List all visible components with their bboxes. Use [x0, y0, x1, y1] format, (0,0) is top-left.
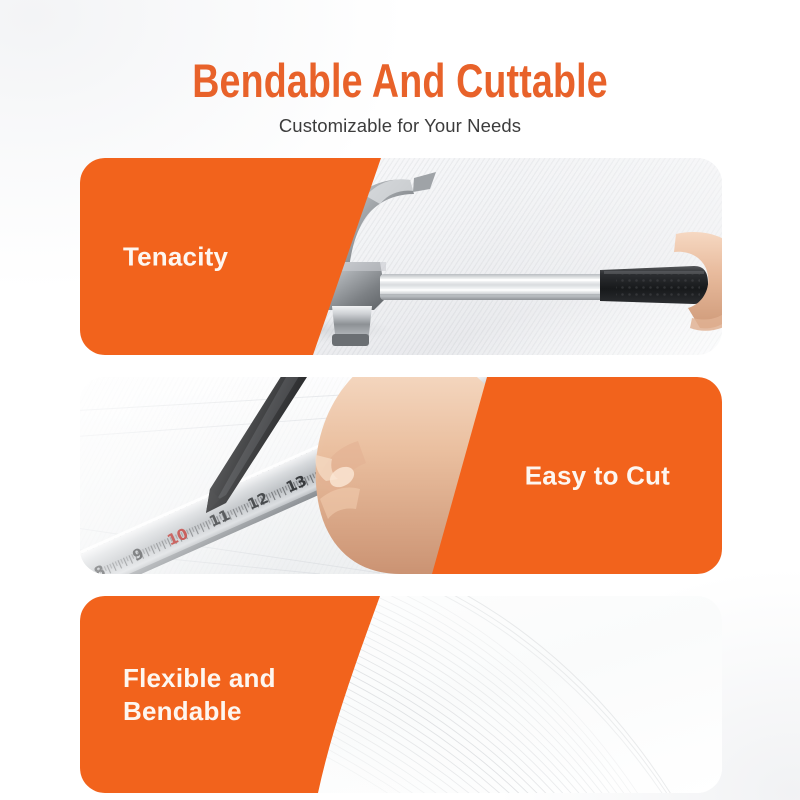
feature-card-easy-to-cut[interactable]: 6 7 8 9 10 11 12 13 14 15	[80, 377, 722, 574]
header: Bendable And Cuttable Customizable for Y…	[0, 56, 800, 137]
feature-card-list: Tenacity	[80, 158, 722, 793]
promo-page: Bendable And Cuttable Customizable for Y…	[0, 0, 800, 800]
feature-card-label: Easy to Cut	[525, 459, 670, 492]
feature-card-label: Flexible and Bendable	[123, 662, 276, 728]
feature-card-label: Tenacity	[123, 240, 228, 273]
page-title: Bendable And Cuttable	[80, 56, 720, 106]
page-subtitle: Customizable for Your Needs	[0, 115, 800, 137]
feature-card-tenacity[interactable]: Tenacity	[80, 158, 722, 355]
feature-card-flexible-and-bendable[interactable]: Flexible and Bendable	[80, 596, 722, 793]
